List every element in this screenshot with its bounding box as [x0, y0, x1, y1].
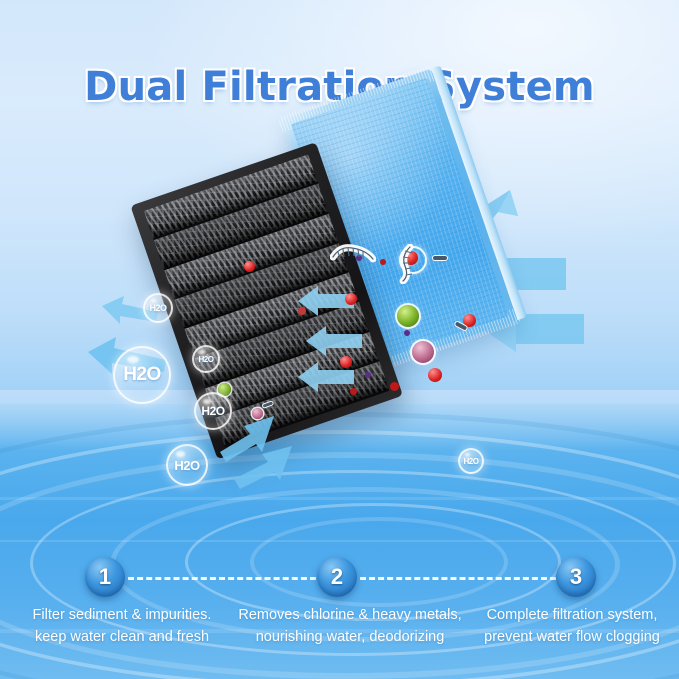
transfer-arrow-2: [304, 322, 364, 360]
germ-rod: [452, 318, 470, 339]
germ-purple-dot: [404, 330, 410, 336]
germ-red-sphere: [340, 356, 352, 368]
h2o-bubble: H2O: [194, 392, 232, 430]
germ-green-spiky: [397, 305, 419, 327]
h2o-bubble: H2O: [113, 346, 171, 404]
step-caption-3-line2: prevent water flow clogging: [465, 626, 679, 648]
step-badge-3[interactable]: 3: [556, 557, 596, 597]
germ-red-sphere: [350, 388, 357, 395]
germ-red-sphere: [244, 261, 255, 272]
step-caption-3-line1: Complete filtration system,: [465, 604, 679, 626]
step-connector-line: [360, 577, 556, 580]
step-caption-2-line2: nourishing water, deodorizing: [228, 626, 472, 648]
step-caption-3: Complete filtration system, prevent wate…: [465, 604, 679, 648]
step-badge-2[interactable]: 2: [317, 557, 357, 597]
germ-rod: [430, 250, 450, 271]
infographic-canvas: Dual Filtration System: [0, 0, 679, 679]
step-caption-2-line1: Removes chlorine & heavy metals,: [228, 604, 472, 626]
germ-red-sphere: [345, 293, 357, 305]
step-connector-line: [128, 577, 316, 580]
germ-red-sphere: [298, 307, 306, 315]
germ-red-sphere: [428, 368, 442, 382]
germ-red-sphere: [380, 259, 386, 265]
germ-red-sphere: [390, 382, 399, 391]
step-caption-1-line1: Filter sediment & impurities.: [0, 604, 244, 626]
germ-worm: [396, 244, 422, 289]
step-caption-1-line2: keep water clean and fresh: [0, 626, 244, 648]
step-caption-1: Filter sediment & impurities. keep water…: [0, 604, 244, 648]
germ-purple-dot: [365, 372, 371, 378]
clean-water-arrow-4: [230, 442, 296, 492]
step-caption-2: Removes chlorine & heavy metals, nourish…: [228, 604, 472, 648]
germ-virus-pink: [412, 341, 434, 363]
germ-worm: [330, 243, 376, 270]
h2o-bubble: H2O: [166, 444, 208, 486]
step-badge-1[interactable]: 1: [85, 557, 125, 597]
h2o-bubble: H2O: [458, 448, 484, 474]
h2o-bubble: H2O: [143, 293, 173, 323]
h2o-bubble: H2O: [192, 345, 220, 373]
